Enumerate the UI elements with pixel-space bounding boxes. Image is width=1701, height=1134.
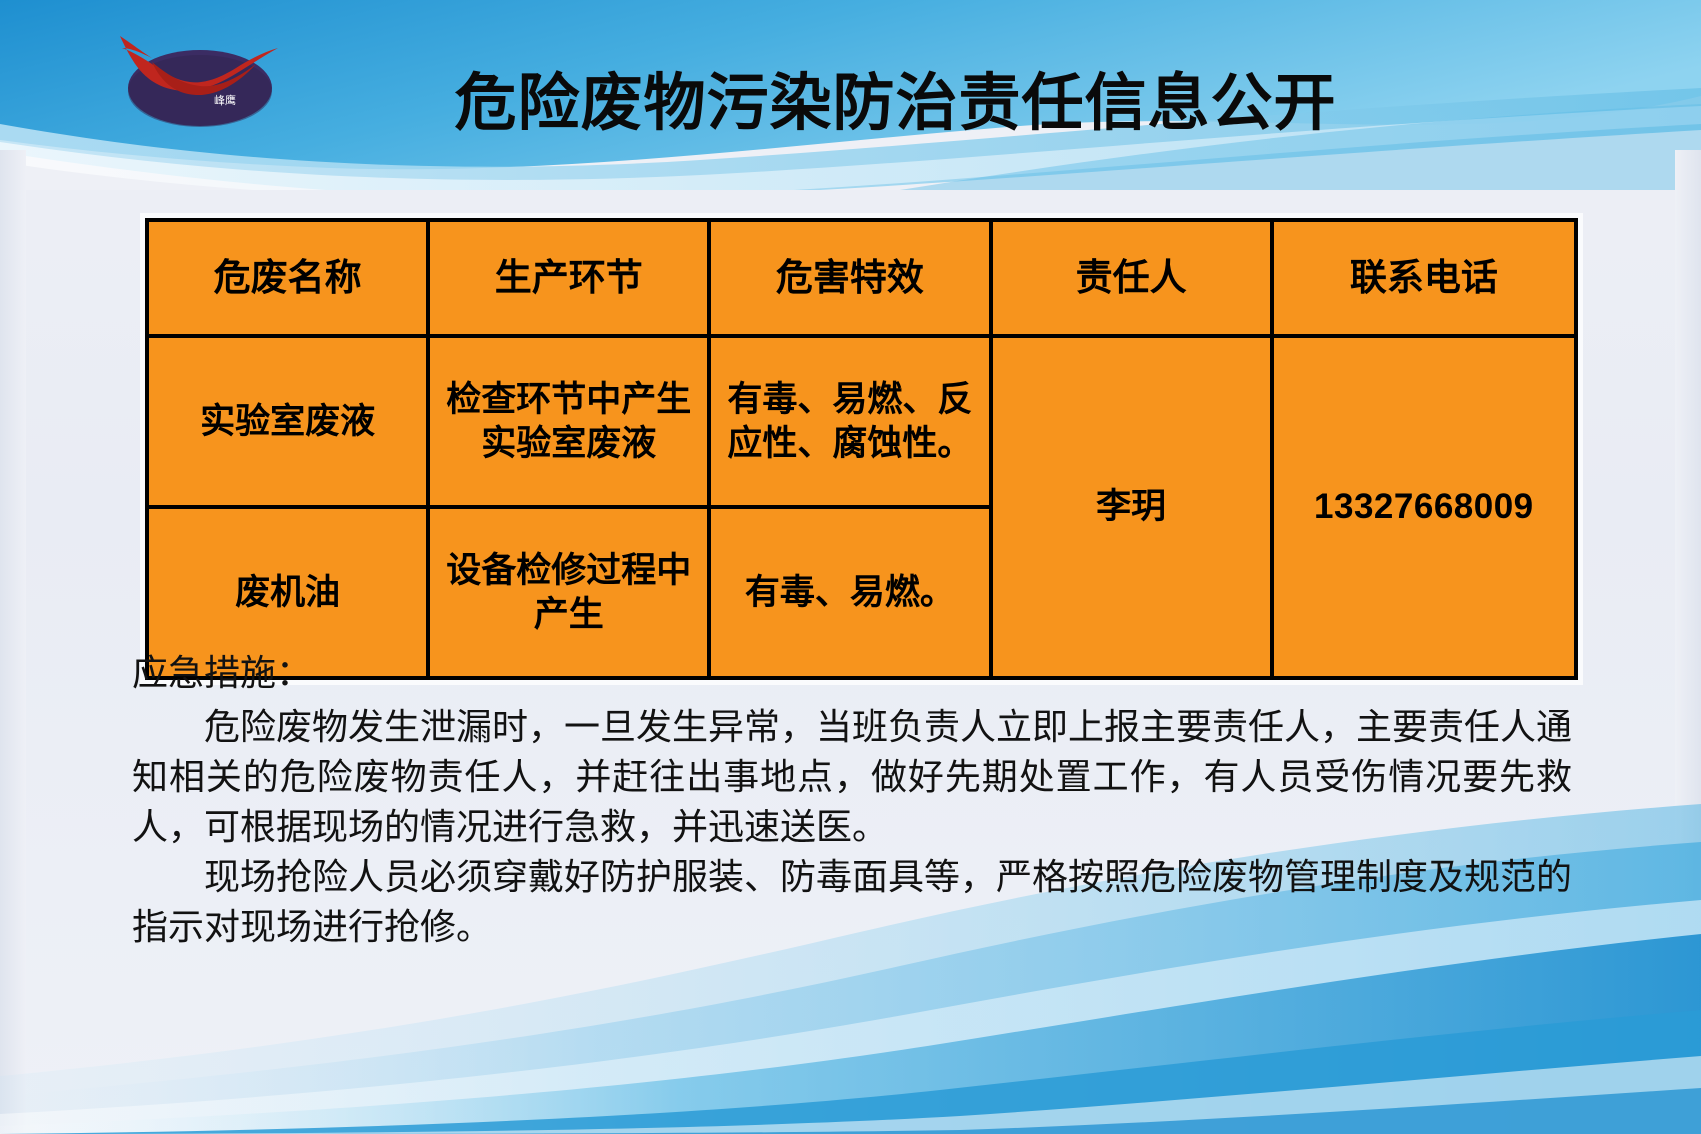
cell-hazard-1: 有毒、易燃、反应性、腐蚀性。 bbox=[709, 336, 990, 507]
table-row: 实验室废液 检查环节中产生实验室废液 有毒、易燃、反应性、腐蚀性。 李玥 133… bbox=[147, 336, 1576, 507]
hazardous-waste-table: 危废名称 生产环节 危害特效 责任人 联系电话 实验室废液 检查环节中产生实验室… bbox=[145, 218, 1578, 680]
hazardous-waste-table-container: 危废名称 生产环节 危害特效 责任人 联系电话 实验室废液 检查环节中产生实验室… bbox=[140, 213, 1583, 685]
table-header-row: 危废名称 生产环节 危害特效 责任人 联系电话 bbox=[147, 220, 1576, 336]
cell-responsible-person: 李玥 bbox=[991, 336, 1272, 678]
cell-contact-phone: 13327668009 bbox=[1272, 336, 1576, 678]
cell-waste-name-1: 实验室废液 bbox=[147, 336, 428, 507]
page-title: 危险废物污染防治责任信息公开 bbox=[0, 52, 1701, 142]
emergency-measures-title: 应急措施： bbox=[132, 648, 1572, 698]
column-header-production-stage: 生产环节 bbox=[428, 220, 709, 336]
right-edge-gradient bbox=[1675, 150, 1701, 1134]
cell-stage-1: 检查环节中产生实验室废液 bbox=[428, 336, 709, 507]
emergency-paragraph-2: 现场抢险人员必须穿戴好防护服装、防毒面具等，严格按照危险废物管理制度及规范的指示… bbox=[132, 852, 1572, 952]
slide-canvas: 峰鹰 危险废物污染防治责任信息公开 危废名称 生产环节 危害特效 责任人 联系电… bbox=[0, 0, 1701, 1134]
emergency-measures-section: 应急措施： 危险废物发生泄漏时，一旦发生异常，当班负责人立即上报主要责任人，主要… bbox=[132, 648, 1572, 952]
left-edge-gradient bbox=[0, 150, 26, 1134]
emergency-paragraph-1: 危险废物发生泄漏时，一旦发生异常，当班负责人立即上报主要责任人，主要责任人通知相… bbox=[132, 702, 1572, 852]
column-header-hazard-property: 危害特效 bbox=[709, 220, 990, 336]
column-header-responsible-person: 责任人 bbox=[991, 220, 1272, 336]
column-header-waste-name: 危废名称 bbox=[147, 220, 428, 336]
column-header-contact-phone: 联系电话 bbox=[1272, 220, 1576, 336]
